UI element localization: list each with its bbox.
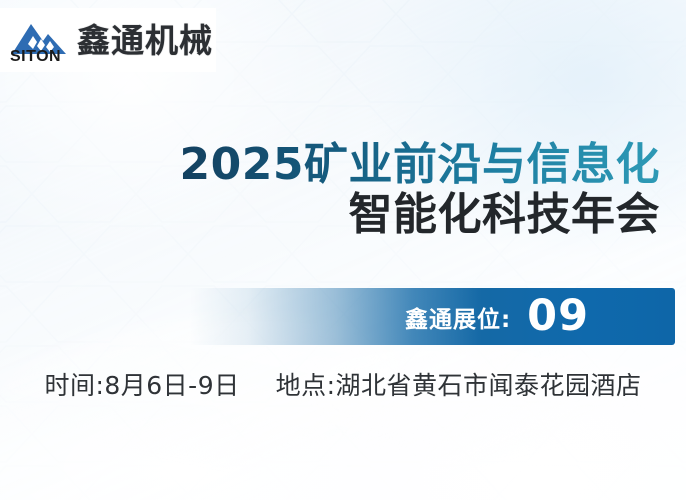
logo-latin-name: SITON: [10, 49, 61, 65]
event-details: 时间:8月6日-9日 地点:湖北省黄石市闻泰花园酒店: [0, 366, 686, 402]
company-logo: SITON 鑫通机械: [0, 8, 216, 72]
event-title: 2025矿业前沿与信息化 智能化科技年会: [180, 140, 660, 241]
logo-chinese-name: 鑫通机械: [77, 24, 213, 57]
booth-number: 09: [527, 295, 589, 338]
background-sheen-bottom-right: [286, 340, 686, 500]
booth-label: 鑫通展位:: [405, 300, 511, 334]
hexagon-pattern-background: [0, 0, 686, 500]
event-poster: SITON 鑫通机械 2025矿业前沿与信息化 智能化科技年会 鑫通展位: 09…: [0, 0, 686, 500]
background-swoosh-right: [301, 329, 652, 484]
booth-number-banner: 鑫通展位: 09: [190, 288, 675, 345]
event-date: 时间:8月6日-9日: [44, 366, 239, 402]
event-title-line-2: 智能化科技年会: [180, 189, 660, 241]
event-venue: 地点:湖北省黄石市闻泰花园酒店: [276, 366, 642, 402]
siton-mountain-icon: SITON: [8, 16, 70, 64]
background-sheen-bottom-left: [0, 320, 520, 500]
event-title-line-1: 2025矿业前沿与信息化: [180, 140, 660, 189]
